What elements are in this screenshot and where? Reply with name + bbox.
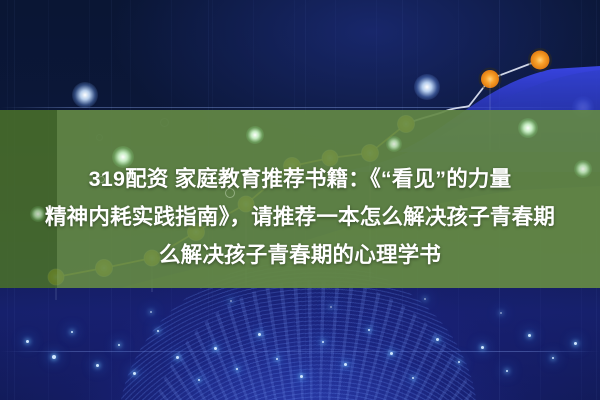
caption-line-1: 319配资 家庭教育推荐书籍：《“看见”的力量 xyxy=(0,160,600,198)
caption-line-2: 精神内耗实践指南》，请推荐一本怎么解决孩子青春期 xyxy=(0,198,600,236)
green-spark-3 xyxy=(386,136,402,152)
caption-line-3: 么解决孩子青春期的心理学书 xyxy=(0,236,600,274)
green-spark-4 xyxy=(518,118,538,138)
green-spark-2 xyxy=(246,126,264,144)
banner-image: 319配资 家庭教育推荐书籍：《“看见”的力量 精神内耗实践指南》，请推荐一本怎… xyxy=(0,0,600,400)
